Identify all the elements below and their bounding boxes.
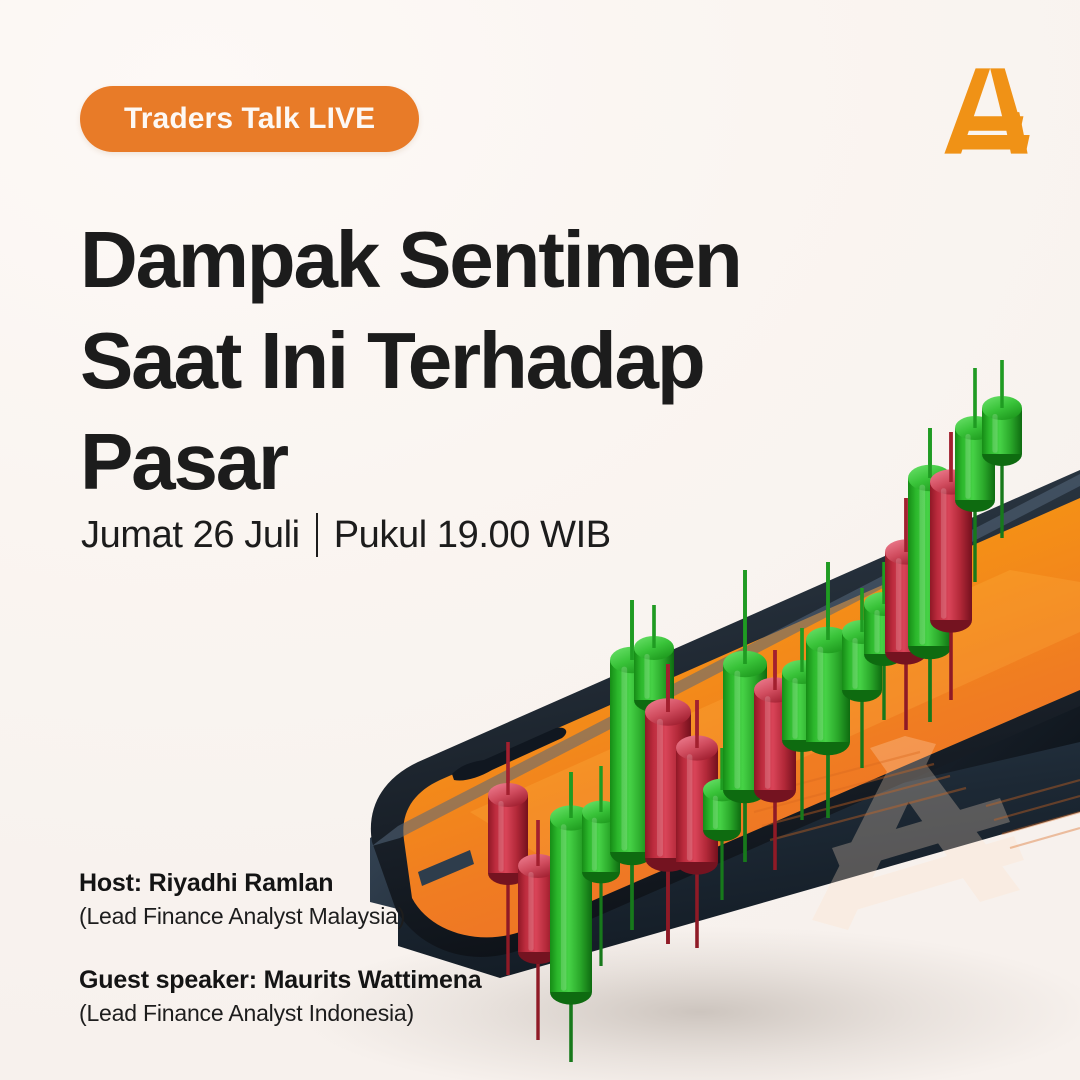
candle-highlight <box>644 654 649 699</box>
candle-highlight <box>657 719 663 857</box>
candle-4-up <box>582 766 620 966</box>
candle-body <box>518 866 558 952</box>
event-datetime: Jumat 26 Juli Pukul 19.00 WIB <box>81 513 611 557</box>
candle-body-top <box>885 539 927 564</box>
candle-body-bottom <box>634 688 674 712</box>
candle-body <box>754 690 796 790</box>
candle-highlight <box>965 434 970 499</box>
candle-body-bottom <box>864 642 904 666</box>
candle-7-down <box>645 664 691 944</box>
candle-body-top <box>610 647 654 673</box>
speaker-guest-role: (Lead Finance Analyst Indonesia) <box>79 997 482 1030</box>
candle-body-bottom <box>488 861 528 885</box>
candle-body <box>723 664 767 790</box>
phone-notch <box>452 728 566 781</box>
candle-body <box>930 482 972 620</box>
candle-body-top <box>782 660 822 684</box>
title-line-2: Saat Ini Terhadap <box>80 310 840 411</box>
candle-body-top <box>676 735 718 760</box>
live-badge-label: Traders Talk LIVE <box>124 102 375 136</box>
candle-body-top <box>723 651 767 677</box>
candle-body-bottom <box>582 861 620 884</box>
candle-body <box>806 640 850 742</box>
candle-body <box>676 748 718 862</box>
candle-body-bottom <box>885 639 927 664</box>
candle-10-up <box>723 570 767 862</box>
brand-logo-a-currency-icon <box>934 58 1038 162</box>
datetime-separator <box>316 513 318 557</box>
candle-highlight <box>874 610 879 653</box>
poster-canvas: Traders Talk LIVE Dampak Sentimen Saat I… <box>0 0 1080 1080</box>
candle-16-down <box>885 498 927 730</box>
speaker-host-role: (Lead Finance Analyst Malaysia) <box>79 900 482 933</box>
candle-highlight <box>941 488 946 618</box>
event-time: Pukul 19.00 WIB <box>334 514 611 557</box>
candle-body <box>703 790 741 830</box>
candle-body <box>782 672 822 740</box>
candle-body <box>864 604 904 654</box>
candle-body-top <box>982 396 1022 420</box>
candle-body <box>842 632 882 690</box>
candle-body-bottom <box>610 839 654 865</box>
candle-body <box>550 818 592 992</box>
candle-body <box>955 428 995 500</box>
candle-body-top <box>518 854 558 878</box>
candle-highlight <box>592 818 597 871</box>
candle-body-top <box>908 465 952 491</box>
candle-11-down <box>754 650 796 870</box>
candle-highlight <box>852 638 857 689</box>
candle-6-up <box>634 605 674 760</box>
candle-body-bottom <box>930 607 972 632</box>
candle-body-top <box>488 783 528 807</box>
candle-18-down <box>930 432 972 700</box>
candle-8-down <box>676 700 718 948</box>
screen-texture-lines <box>746 752 1080 848</box>
candle-highlight <box>734 671 740 789</box>
candle-body-top <box>930 469 972 494</box>
candle-body-bottom <box>908 633 952 659</box>
speaker-host: Host: Riyadhi Ramlan (Lead Finance Analy… <box>79 866 482 933</box>
screen-watermark-and-texture <box>470 570 1080 930</box>
speakers-list: Host: Riyadhi Ramlan (Lead Finance Analy… <box>79 866 482 1030</box>
candle-body-top <box>550 805 592 830</box>
candle-14-up <box>842 588 882 768</box>
candle-highlight <box>621 667 627 851</box>
phone-bottom-face <box>398 742 1080 978</box>
candle-body <box>488 795 528 873</box>
speaker-host-name: Host: Riyadhi Ramlan <box>79 866 482 900</box>
candle-body-top <box>634 636 674 660</box>
screen-sheen <box>470 570 1080 868</box>
candle-17-up <box>908 428 952 722</box>
candle-body-bottom <box>550 979 592 1004</box>
candle-9-up <box>703 748 741 900</box>
candle-body-bottom <box>782 728 822 752</box>
candle-body-bottom <box>842 678 882 702</box>
candle-body-bottom <box>645 844 691 872</box>
title-line-3: Pasar <box>80 411 840 512</box>
candle-body-top <box>955 416 995 440</box>
candle-highlight <box>713 796 718 829</box>
candle-body-top <box>806 627 850 653</box>
candle-20-up <box>982 360 1022 538</box>
candle-highlight <box>687 754 692 860</box>
event-date: Jumat 26 Juli <box>81 514 300 557</box>
candle-12-up <box>782 628 822 820</box>
candle-body-bottom <box>982 442 1022 466</box>
candle-body <box>610 660 654 852</box>
candle-body-top <box>754 677 796 702</box>
candle-13-up <box>806 562 850 818</box>
candle-body-top <box>864 592 904 616</box>
candle-highlight <box>561 824 566 990</box>
candle-3-up <box>550 772 592 1062</box>
page-title: Dampak Sentimen Saat Ini Terhadap Pasar <box>80 209 840 512</box>
phone-screen <box>403 498 1080 937</box>
candle-body-bottom <box>676 849 718 874</box>
candle-body <box>908 478 952 646</box>
candle-body-bottom <box>703 819 741 842</box>
speaker-guest: Guest speaker: Maurits Wattimena (Lead F… <box>79 963 482 1030</box>
candle-body <box>634 648 674 700</box>
candle-body-bottom <box>806 729 850 755</box>
candle-body-bottom <box>955 488 995 512</box>
candle-15-up <box>864 562 904 720</box>
candle-body <box>645 712 691 858</box>
candle-highlight <box>896 558 901 650</box>
candle-body-bottom <box>723 777 767 803</box>
title-line-1: Dampak Sentimen <box>80 209 840 310</box>
live-badge[interactable]: Traders Talk LIVE <box>80 86 419 152</box>
candle-5-up <box>610 600 654 930</box>
candle-1-down <box>488 742 528 975</box>
candle-body <box>582 812 620 872</box>
candle-highlight <box>817 647 823 741</box>
candle-body-top <box>645 698 691 726</box>
candle-highlight <box>992 414 997 453</box>
candle-body-top <box>842 620 882 644</box>
candle-highlight <box>765 696 770 788</box>
candle-body <box>885 552 927 652</box>
candle-body-bottom <box>754 777 796 802</box>
candle-body-top <box>582 801 620 824</box>
candle-highlight <box>528 872 533 951</box>
candle-body <box>982 408 1022 454</box>
candle-highlight <box>792 678 797 739</box>
candle-body-bottom <box>518 940 558 964</box>
candle-highlight <box>919 485 925 645</box>
candle-2-down <box>518 820 558 1040</box>
speaker-guest-name: Guest speaker: Maurits Wattimena <box>79 963 482 997</box>
candle-highlight <box>498 801 503 872</box>
candle-body-top <box>703 779 741 802</box>
candle-19-up <box>955 368 995 582</box>
screen-logo-watermark <box>812 736 1024 930</box>
